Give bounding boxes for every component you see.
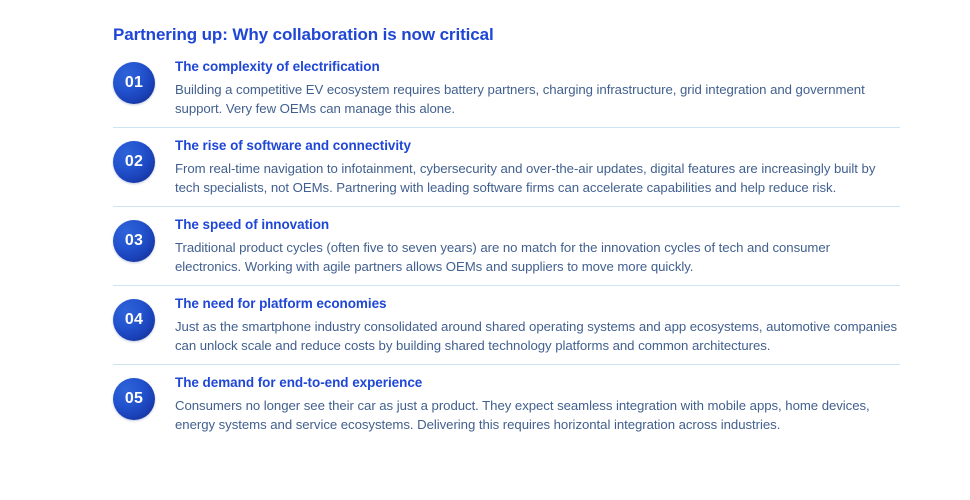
list-item: 03 The speed of innovation Traditional p… <box>113 206 900 285</box>
list-item-body: The speed of innovation Traditional prod… <box>175 216 900 276</box>
list-item: 02 The rise of software and connectivity… <box>113 127 900 206</box>
list-item-text: Building a competitive EV ecosystem requ… <box>175 81 898 118</box>
item-number-badge: 03 <box>113 220 155 262</box>
page-title: Partnering up: Why collaboration is now … <box>113 24 900 46</box>
list-item-body: The rise of software and connectivity Fr… <box>175 137 900 197</box>
list-item-text: Just as the smartphone industry consolid… <box>175 318 898 355</box>
list-item-body: The complexity of electrification Buildi… <box>175 58 900 118</box>
list-item-text: From real-time navigation to infotainmen… <box>175 160 898 197</box>
list-item-body: The need for platform economies Just as … <box>175 295 900 355</box>
list-item-heading: The demand for end-to-end experience <box>175 374 898 392</box>
item-number-badge: 05 <box>113 378 155 420</box>
list-item: 01 The complexity of electrification Bui… <box>113 56 900 127</box>
list-item-heading: The rise of software and connectivity <box>175 137 898 155</box>
item-number-badge: 02 <box>113 141 155 183</box>
list-item-text: Traditional product cycles (often five t… <box>175 239 898 276</box>
list-item-body: The demand for end-to-end experience Con… <box>175 374 900 434</box>
list-item-heading: The speed of innovation <box>175 216 898 234</box>
list-item-heading: The need for platform economies <box>175 295 898 313</box>
item-number-badge: 01 <box>113 62 155 104</box>
numbered-reason-list: 01 The complexity of electrification Bui… <box>113 56 900 443</box>
list-item-text: Consumers no longer see their car as jus… <box>175 397 898 434</box>
list-item: 04 The need for platform economies Just … <box>113 285 900 364</box>
list-item: 05 The demand for end-to-end experience … <box>113 364 900 443</box>
item-number-badge: 04 <box>113 299 155 341</box>
list-item-heading: The complexity of electrification <box>175 58 898 76</box>
infographic-page: Partnering up: Why collaboration is now … <box>0 0 970 500</box>
